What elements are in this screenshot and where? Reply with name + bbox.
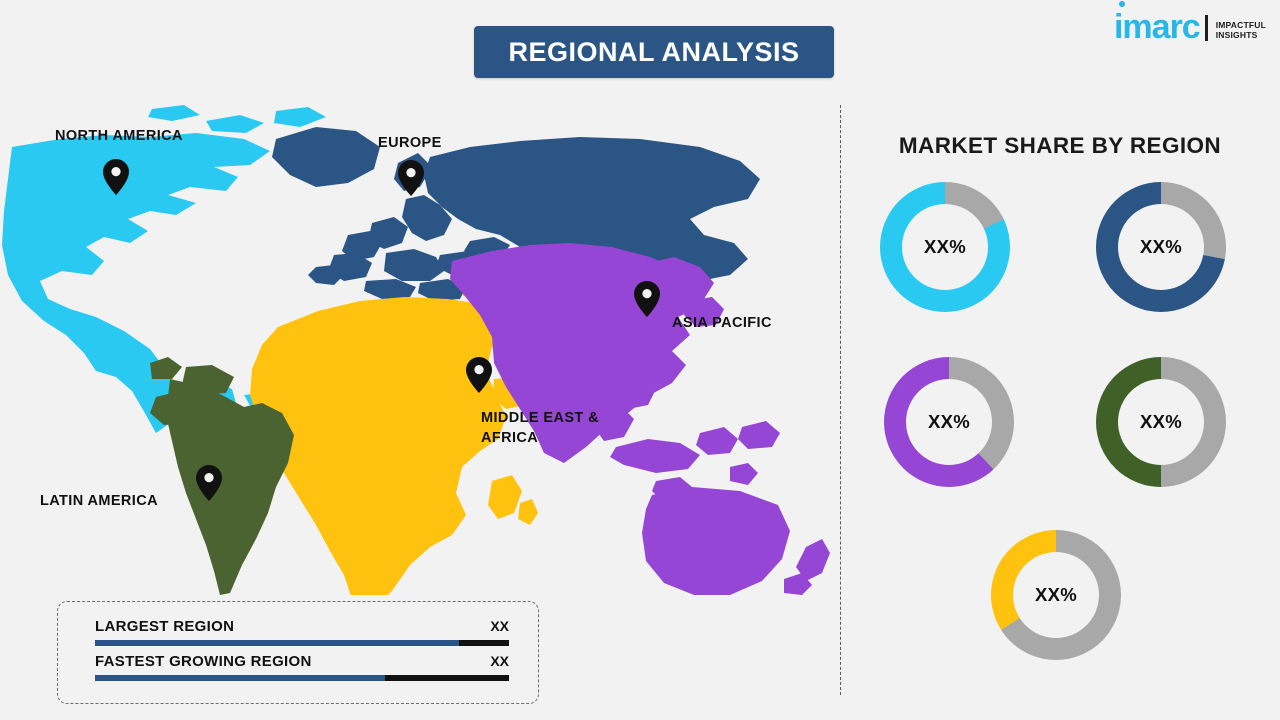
map-pin-north-america-icon — [103, 159, 129, 195]
legend-value-largest-region: XX — [490, 618, 509, 634]
legend-row-largest-region: LARGEST REGION XX — [95, 618, 509, 646]
market-share-donut-group: XX% XX% XX% XX% XX% — [858, 182, 1262, 672]
logo-tagline: IMPACTFUL INSIGHTS — [1216, 20, 1266, 44]
region-highlight-box: LARGEST REGION XX FASTEST GROWING REGION… — [57, 601, 539, 704]
legend-value-fastest-growing-region: XX — [490, 653, 509, 669]
logo-text: imarc — [1114, 8, 1200, 46]
logo-tagline-line1: IMPACTFUL — [1216, 20, 1266, 31]
legend-bar-fastest-growing-region — [95, 675, 509, 681]
donut-hole-europe: XX% — [1118, 204, 1204, 290]
donut-hole-north-america: XX% — [902, 204, 988, 290]
donut-value-north-america: XX% — [924, 236, 966, 258]
donut-europe: XX% — [1096, 182, 1226, 312]
market-share-title: MARKET SHARE BY REGION — [860, 133, 1260, 159]
donut-latin-america: XX% — [1096, 357, 1226, 487]
legend-bar-fill-largest-region — [95, 640, 459, 646]
donut-hole-middle-east-africa: XX% — [1013, 552, 1099, 638]
map-label-europe: EUROPE — [378, 134, 442, 154]
infographic-canvas: REGIONAL ANALYSIS imarc IMPACTFUL INSIGH… — [0, 0, 1280, 720]
page-title: REGIONAL ANALYSIS — [508, 37, 799, 68]
page-title-chip: REGIONAL ANALYSIS — [474, 26, 834, 78]
map-label-asia-pacific: ASIA PACIFIC — [672, 314, 772, 334]
map-pin-asia-pacific-icon — [634, 281, 660, 317]
donut-north-america: XX% — [880, 182, 1010, 312]
map-label-latin-america: LATIN AMERICA — [40, 492, 158, 512]
logo-dot-icon — [1119, 1, 1125, 7]
map-label-middle-east-africa: MIDDLE EAST & AFRICA — [481, 409, 599, 448]
brand-logo: imarc IMPACTFUL INSIGHTS — [1114, 10, 1266, 44]
legend-bar-largest-region — [95, 640, 509, 646]
legend-label-fastest-growing-region: FASTEST GROWING REGION — [95, 653, 312, 670]
donut-value-middle-east-africa: XX% — [1035, 584, 1077, 606]
donut-value-latin-america: XX% — [1140, 411, 1182, 433]
logo-divider-bar — [1205, 15, 1208, 41]
map-pin-middle-east-africa-icon — [466, 357, 492, 393]
legend-row-fastest-growing-region: FASTEST GROWING REGION XX — [95, 653, 509, 681]
donut-hole-asia-pacific: XX% — [906, 379, 992, 465]
donut-middle-east-africa: XX% — [991, 530, 1121, 660]
logo-tagline-line2: INSIGHTS — [1216, 30, 1266, 41]
donut-asia-pacific: XX% — [884, 357, 1014, 487]
donut-value-europe: XX% — [1140, 236, 1182, 258]
legend-bar-fill-fastest-growing-region — [95, 675, 385, 681]
donut-value-asia-pacific: XX% — [928, 411, 970, 433]
logo-wordmark: imarc — [1114, 10, 1200, 44]
legend-label-largest-region: LARGEST REGION — [95, 618, 234, 635]
donut-hole-latin-america: XX% — [1118, 379, 1204, 465]
panel-divider — [840, 105, 841, 695]
map-pin-latin-america-icon — [196, 465, 222, 501]
map-pin-europe-icon — [398, 160, 424, 196]
map-label-north-america: NORTH AMERICA — [55, 127, 183, 147]
